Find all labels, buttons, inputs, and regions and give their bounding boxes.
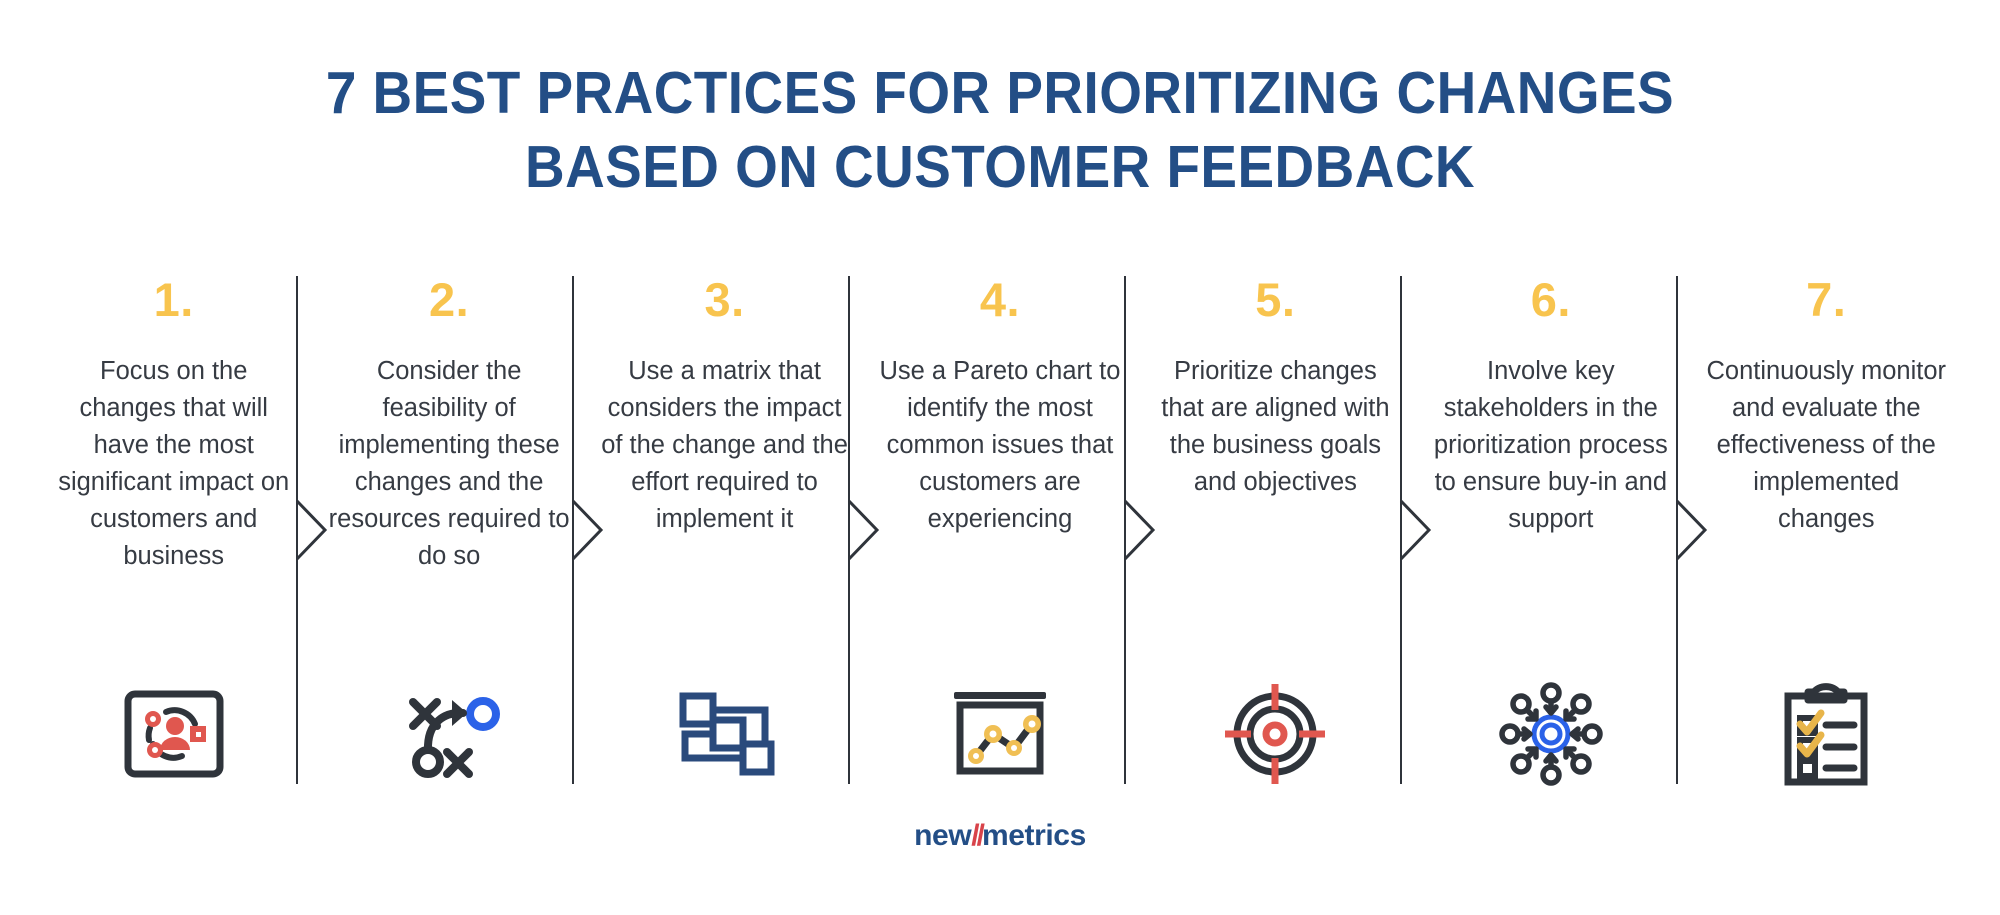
matrix-flowchart-icon <box>666 680 784 788</box>
step-number: 3. <box>704 276 744 323</box>
steps-row: 1. Focus on the changes that will have t… <box>36 276 1964 796</box>
target-crosshair-icon <box>1216 680 1334 788</box>
step-text: Focus on the changes that will have the … <box>50 353 297 575</box>
step-text: Prioritize changes that are aligned with… <box>1152 353 1399 501</box>
logo-slash: // <box>971 819 982 852</box>
step-text: Use a matrix that considers the impact o… <box>601 353 848 538</box>
step-number: 6. <box>1531 276 1571 323</box>
step-1: 1. Focus on the changes that will have t… <box>36 276 311 796</box>
logo-text: new//metrics <box>914 819 1086 853</box>
customer-insight-board-icon <box>115 680 233 788</box>
step-number: 2. <box>429 276 469 323</box>
step-text: Continuously monitor and evaluate the ef… <box>1703 353 1950 538</box>
step-6: 6. Involve key stakeholders in the prior… <box>1413 276 1688 796</box>
step-number: 5. <box>1255 276 1295 323</box>
page-title: 7 BEST PRACTICES FOR PRIORITIZING CHANGE… <box>0 56 2000 204</box>
stakeholders-network-icon <box>1492 680 1610 788</box>
presentation-line-chart-icon <box>941 680 1059 788</box>
logo-post: metrics <box>982 819 1086 852</box>
step-number: 4. <box>980 276 1020 323</box>
step-3: 3. Use a matrix that considers the impac… <box>587 276 862 796</box>
step-2: 2. Consider the feasibility of implement… <box>311 276 586 796</box>
clipboard-checklist-icon <box>1767 680 1885 788</box>
step-text: Consider the feasibility of implementing… <box>325 353 572 575</box>
step-text: Involve key stakeholders in the prioriti… <box>1427 353 1674 538</box>
logo-pre: new <box>914 819 971 852</box>
footer-logo: new//metrics <box>0 819 2000 853</box>
strategy-playbook-icon <box>390 680 508 788</box>
infographic-page: 7 BEST PRACTICES FOR PRIORITIZING CHANGE… <box>0 0 2000 915</box>
step-7: 7. Continuously monitor and evaluate the… <box>1689 276 1964 796</box>
step-4: 4. Use a Pareto chart to identify the mo… <box>862 276 1137 796</box>
step-text: Use a Pareto chart to identify the most … <box>876 353 1123 538</box>
step-number: 1. <box>154 276 194 323</box>
step-number: 7. <box>1806 276 1846 323</box>
step-5: 5. Prioritize changes that are aligned w… <box>1138 276 1413 796</box>
title-line-2: BASED ON CUSTOMER FEEDBACK <box>70 130 1930 204</box>
title-line-1: 7 BEST PRACTICES FOR PRIORITIZING CHANGE… <box>70 56 1930 130</box>
